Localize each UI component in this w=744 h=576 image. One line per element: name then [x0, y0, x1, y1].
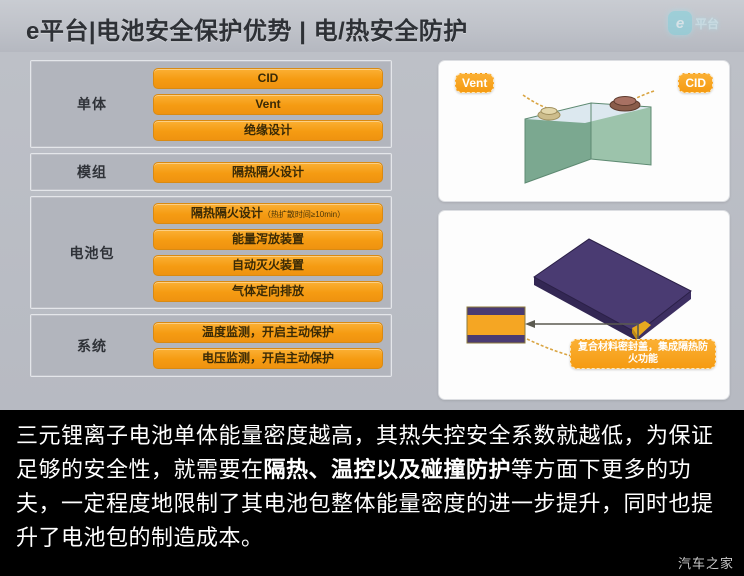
group-cell: 单体 CID Vent 绝缘设计: [30, 60, 392, 148]
slide-body: 单体 CID Vent 绝缘设计 模组 隔热隔火设计 电池包 隔: [0, 52, 744, 410]
group-module: 模组 隔热隔火设计: [30, 153, 392, 191]
group-items: 温度监测，开启主动保护 电压监测，开启主动保护: [153, 315, 391, 376]
measure-pill[interactable]: 隔热隔火设计: [153, 162, 383, 183]
safety-hierarchy: 单体 CID Vent 绝缘设计 模组 隔热隔火设计 电池包 隔: [30, 60, 392, 382]
cover-illustration-card: 复合材料密封盖，集成隔热防火功能: [438, 210, 730, 400]
slide-header: e平台|电池安全保护优势 | 电/热安全防护 e 平台: [0, 0, 744, 52]
measure-pill[interactable]: 绝缘设计: [153, 120, 383, 141]
callout-cid: CID: [678, 73, 713, 93]
cell-illustration-card: Vent CID: [438, 60, 730, 202]
measure-pill[interactable]: 隔热隔火设计（热扩散时间≥10min）: [153, 203, 383, 224]
group-items: 隔热隔火设计（热扩散时间≥10min） 能量泻放装置 自动灭火装置 气体定向排放: [153, 196, 391, 309]
measure-pill[interactable]: 自动灭火装置: [153, 255, 383, 276]
group-items: 隔热隔火设计: [153, 155, 391, 190]
caption-strip: 三元锂离子电池单体能量密度越高，其热失控安全系数就越低，为保证足够的安全性，就需…: [0, 410, 744, 576]
group-label: 单体: [31, 94, 153, 114]
slide-root: e平台|电池安全保护优势 | 电/热安全防护 e 平台 单体 CID Vent …: [0, 0, 744, 576]
group-label: 电池包: [31, 243, 153, 263]
callout-vent: Vent: [455, 73, 494, 93]
e-platform-logo: e 平台: [668, 8, 730, 38]
group-battery-pack: 电池包 隔热隔火设计（热扩散时间≥10min） 能量泻放装置 自动灭火装置 气体…: [30, 196, 392, 309]
callout-composite-cover: 复合材料密封盖，集成隔热防火功能: [570, 339, 716, 369]
group-label: 模组: [31, 162, 153, 182]
measure-pill[interactable]: 能量泻放装置: [153, 229, 383, 250]
measure-pill-note: （热扩散时间≥10min）: [263, 210, 345, 219]
measure-pill[interactable]: Vent: [153, 94, 383, 115]
watermark: 汽车之家: [678, 553, 734, 572]
measure-pill[interactable]: 温度监测，开启主动保护: [153, 322, 383, 343]
group-label: 系统: [31, 336, 153, 356]
illustration-column: Vent CID: [438, 60, 730, 400]
group-system: 系统 温度监测，开启主动保护 电压监测，开启主动保护: [30, 314, 392, 377]
caption-text: 三元锂离子电池单体能量密度越高，其热失控安全系数就越低，为保证足够的安全性，就需…: [16, 420, 728, 556]
measure-pill[interactable]: 气体定向排放: [153, 281, 383, 302]
measure-pill[interactable]: CID: [153, 68, 383, 89]
composite-cover-drawing: [439, 211, 730, 399]
measure-pill[interactable]: 电压监测，开启主动保护: [153, 348, 383, 369]
group-items: CID Vent 绝缘设计: [153, 61, 391, 148]
e-logo-icon: e: [668, 11, 692, 35]
page-title: e平台|电池安全保护优势 | 电/热安全防护: [26, 11, 468, 46]
e-logo-label: 平台: [695, 15, 719, 32]
caption-bold: 隔热、温控以及碰撞防护: [264, 458, 512, 483]
